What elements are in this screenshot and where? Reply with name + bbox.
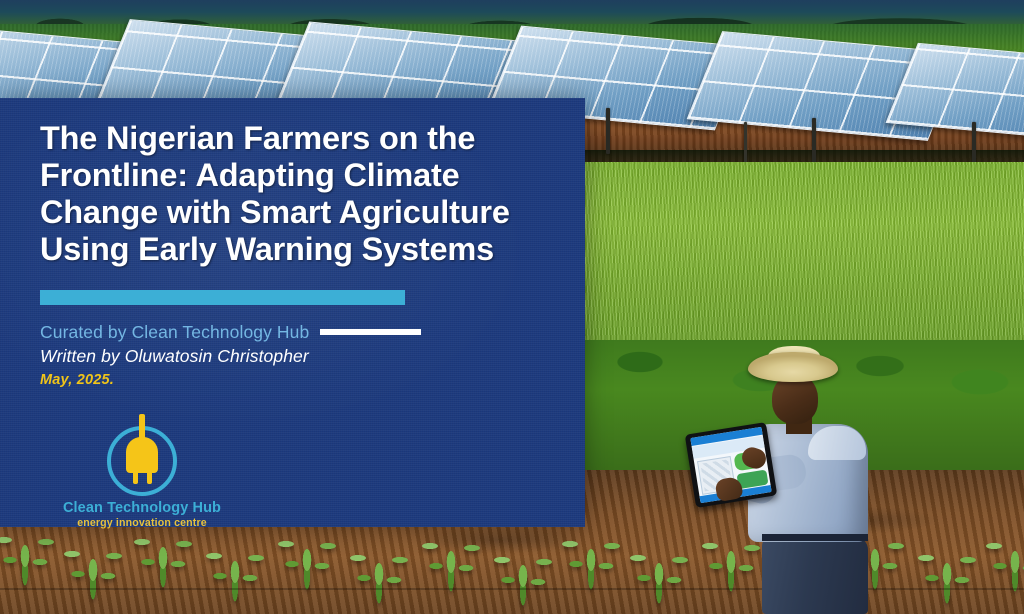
- solar-panel-leg: [812, 118, 816, 166]
- logo-tagline: energy innovation centre: [58, 517, 226, 529]
- logo-name: Clean Technology Hub: [58, 500, 226, 516]
- plug-pin: [133, 471, 138, 484]
- foreground-plant: [916, 538, 978, 612]
- curated-by-label: Curated by Clean Technology Hub: [40, 322, 309, 343]
- farmer-shoulder: [808, 426, 866, 460]
- foreground-plant: [0, 520, 56, 594]
- page-title: The Nigerian Farmers on the Frontline: A…: [40, 120, 561, 268]
- curated-by-row: Curated by Clean Technology Hub: [40, 322, 561, 343]
- plug-cord: [139, 414, 145, 440]
- solar-panel-leg: [606, 108, 610, 154]
- straw-hat-icon: [748, 352, 838, 382]
- foreground-plant: [628, 538, 690, 612]
- plug-icon: [96, 414, 188, 498]
- foreground-plant: [348, 538, 410, 612]
- author-label: Written by Oluwatosin Christopher: [40, 346, 561, 367]
- plug-pin: [147, 471, 152, 484]
- farmer-trousers: [762, 536, 868, 614]
- foreground-plant: [62, 534, 124, 608]
- clean-technology-hub-logo: Clean Technology Hub energy innovation c…: [58, 414, 226, 529]
- farmer-belt: [762, 534, 868, 541]
- farmer-figure: [690, 352, 890, 614]
- foreground-plant: [276, 524, 338, 598]
- title-panel: The Nigerian Farmers on the Frontline: A…: [0, 98, 585, 527]
- plug-body: [126, 437, 158, 473]
- solar-panel-leg: [744, 122, 747, 164]
- foreground-plant: [560, 524, 622, 598]
- accent-bar: [40, 290, 405, 305]
- report-cover: The Nigerian Farmers on the Frontline: A…: [0, 0, 1024, 614]
- foreground-plant: [132, 522, 194, 596]
- byline-rule: [320, 329, 421, 335]
- foreground-plant: [492, 540, 554, 614]
- publication-date: May, 2025.: [40, 372, 561, 388]
- foreground-plant: [204, 536, 266, 610]
